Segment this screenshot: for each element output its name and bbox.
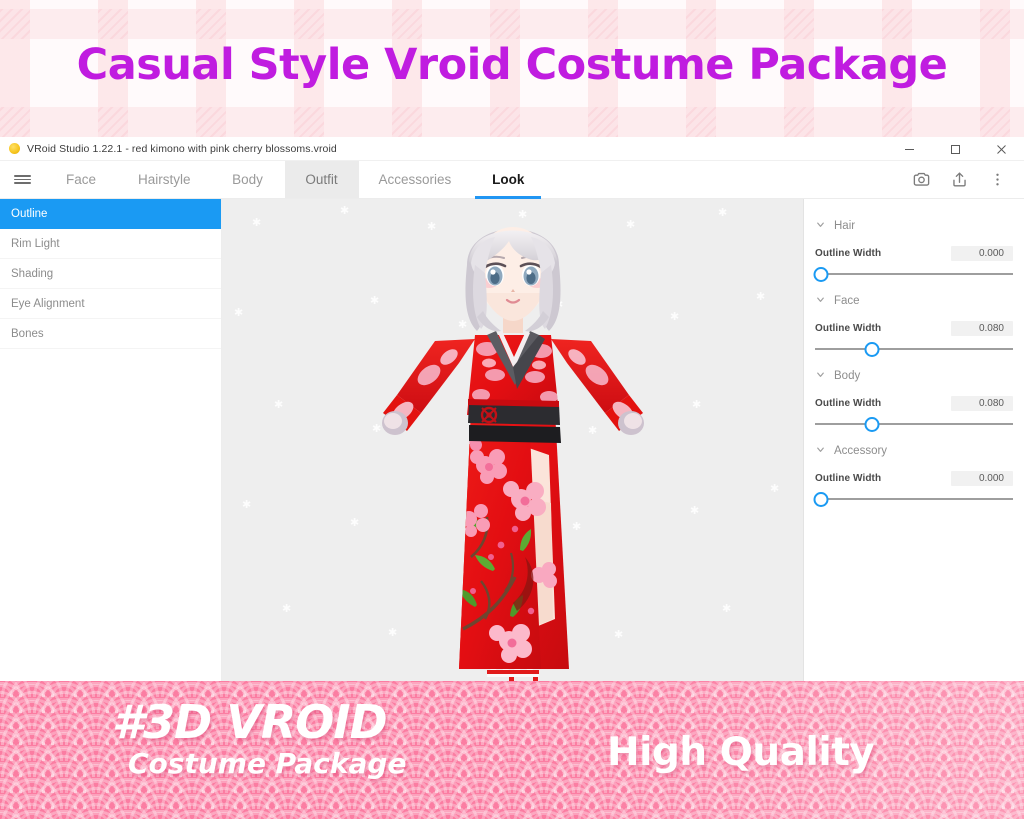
slider-thumb[interactable] [865,417,880,432]
export-icon[interactable] [942,163,976,197]
param-row-hair-outline-width: Outline Width 0.000 [815,246,1013,261]
slider-accessory-outline-width[interactable] [815,489,1013,509]
camera-icon[interactable] [904,163,938,197]
chevron-down-icon [815,219,826,233]
group-label-body: Body [834,370,860,382]
more-options-icon[interactable] [980,163,1014,197]
param-value-face[interactable]: 0.080 [951,321,1013,336]
slider-hair-outline-width[interactable] [815,264,1013,284]
sidebar-item-bones[interactable]: Bones [0,319,221,349]
group-header-face[interactable]: Face [815,290,1013,312]
close-icon[interactable] [978,137,1024,161]
param-label-face: Outline Width [815,323,881,334]
sidebar-item-rim-light-label: Rim Light [11,238,60,250]
left-sleeve [382,339,475,435]
tab-accessories-label: Accessories [379,172,452,187]
tab-face[interactable]: Face [44,161,118,198]
tab-look[interactable]: Look [471,161,545,198]
tab-face-label: Face [66,172,96,187]
app-body: Outline Rim Light Shading Eye Alignment … [0,199,1024,681]
param-row-accessory-outline-width: Outline Width 0.000 [815,471,1013,486]
group-header-body[interactable]: Body [815,365,1013,387]
tab-look-label: Look [492,172,524,187]
slider-thumb[interactable] [813,267,828,282]
top-promo-banner: Casual Style Vroid Costume Package [0,0,1024,137]
tab-body[interactable]: Body [211,161,285,198]
group-header-hair[interactable]: Hair [815,215,1013,237]
slider-face-outline-width[interactable] [815,339,1013,359]
param-value-accessory[interactable]: 0.000 [951,471,1013,486]
sidebar-item-shading-label: Shading [11,268,53,280]
param-row-body-outline-width: Outline Width 0.080 [815,396,1013,411]
kimono-skirt [458,411,569,669]
bottom-banner-tagline: High Quality [607,733,874,772]
chevron-down-icon [815,294,826,308]
param-value-body[interactable]: 0.080 [951,396,1013,411]
bottom-banner-subhead: Costume Package [128,750,406,778]
bottom-banner-left-text: #3D VROID Costume Package [112,699,406,778]
right-sleeve [551,339,644,435]
slider-thumb[interactable] [865,342,880,357]
sidebar-item-shading[interactable]: Shading [0,259,221,289]
sidebar-item-outline[interactable]: Outline [0,199,221,229]
param-row-face-outline-width: Outline Width 0.080 [815,321,1013,336]
group-label-accessory: Accessory [834,445,887,457]
maximize-icon[interactable] [932,137,978,161]
sidebar-item-bones-label: Bones [11,328,44,340]
group-header-accessory[interactable]: Accessory [815,440,1013,462]
obi-sash [468,399,561,443]
tab-accessories[interactable]: Accessories [359,161,472,198]
minimize-icon[interactable] [886,137,932,161]
page-root: Casual Style Vroid Costume Package VRoid… [0,0,1024,819]
slider-track [815,273,1013,275]
tab-outfit[interactable]: Outfit [285,161,359,198]
tab-hairstyle-label: Hairstyle [138,172,191,187]
param-label-hair: Outline Width [815,248,881,259]
slider-track [815,348,1013,350]
look-sidebar: Outline Rim Light Shading Eye Alignment … [0,199,222,681]
sidebar-item-eye-alignment[interactable]: Eye Alignment [0,289,221,319]
slider-track [815,498,1013,500]
sidebar-item-eye-alignment-label: Eye Alignment [11,298,85,310]
group-label-face: Face [834,295,860,307]
character-head [465,227,560,331]
chevron-down-icon [815,369,826,383]
tab-outfit-label: Outfit [305,172,337,187]
param-value-hair[interactable]: 0.000 [951,246,1013,261]
param-label-body: Outline Width [815,398,881,409]
chevron-down-icon [815,444,826,458]
bottom-promo-banner: #3D VROID Costume Package High Quality [0,681,1024,819]
bottom-banner-headline: #3D VROID [112,699,406,745]
main-tabbar: Face Hairstyle Body Outfit Accessories L… [0,161,1024,199]
vroid-studio-window: VRoid Studio 1.22.1 - red kimono with pi… [0,137,1024,681]
hamburger-icon[interactable] [0,161,44,198]
group-label-hair: Hair [834,220,855,232]
window-title: VRoid Studio 1.22.1 - red kimono with pi… [27,143,337,155]
window-titlebar: VRoid Studio 1.22.1 - red kimono with pi… [0,137,1024,161]
character-model[interactable] [363,199,663,681]
tab-body-label: Body [232,172,263,187]
window-controls [886,137,1024,161]
model-viewport[interactable]: ✱ ✱ ✱ ✱ ✱ ✱ ✱ ✱ ✱ ✱ ✱ ✱ ✱ ✱ ✱ ✱ ✱ [222,199,803,681]
promo-title: Casual Style Vroid Costume Package [0,40,1024,90]
titlebar-tools [904,161,1024,198]
vroid-app-icon [9,143,20,154]
slider-thumb[interactable] [813,492,828,507]
tab-hairstyle[interactable]: Hairstyle [118,161,211,198]
sidebar-item-outline-label: Outline [11,208,47,220]
slider-body-outline-width[interactable] [815,414,1013,434]
slider-track [815,423,1013,425]
sidebar-item-rim-light[interactable]: Rim Light [0,229,221,259]
param-label-accessory: Outline Width [815,473,881,484]
outline-inspector-panel: Hair Outline Width 0.000 Face [803,199,1024,681]
